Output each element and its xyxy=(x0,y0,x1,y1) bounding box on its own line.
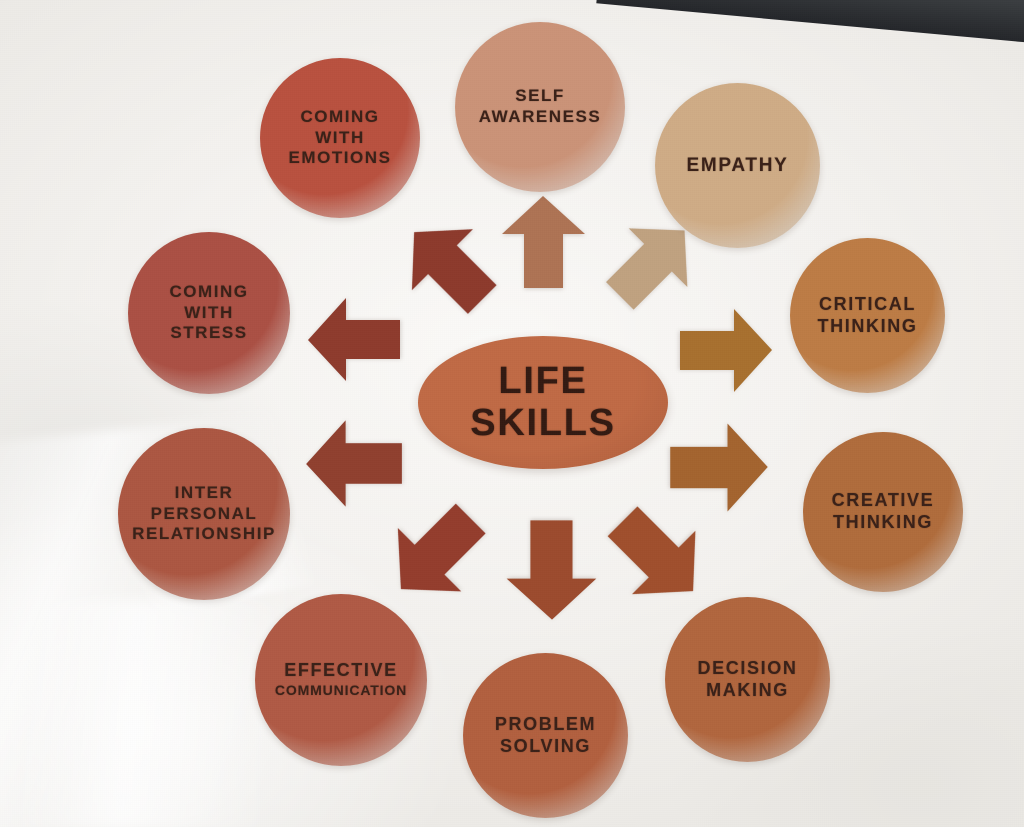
center-node-label-line1: LIFE xyxy=(498,360,587,402)
skill-node-label-line: PROBLEM xyxy=(495,714,596,734)
skill-node-label-line: EFFECTIVE xyxy=(284,660,398,680)
skill-node-problem-solving[interactable]: PROBLEMSOLVING xyxy=(463,653,628,818)
arrow-to-self-awareness xyxy=(493,192,593,292)
arrow-to-coming-with-stress xyxy=(304,290,404,390)
skill-node-label-line: EMOTIONS xyxy=(289,148,392,167)
center-node-label-line2: SKILLS xyxy=(470,402,615,444)
skill-node-label-line: SOLVING xyxy=(500,736,591,756)
arrow-to-self-awareness-glyph xyxy=(493,192,593,292)
skill-node-label-line: THINKING xyxy=(833,512,933,532)
skill-node-decision-making[interactable]: DECISIONMAKING xyxy=(665,597,830,762)
skill-node-label-line: MAKING xyxy=(706,680,789,700)
arrow-to-inter-personal xyxy=(302,412,406,516)
skill-node-label-line: COMING xyxy=(300,107,379,126)
skill-node-label: DECISIONMAKING xyxy=(692,658,804,702)
skill-node-label-line: WITH xyxy=(315,128,365,147)
skill-node-self-awareness[interactable]: SELFAWARENESS xyxy=(455,22,625,192)
skill-node-coming-with-stress[interactable]: COMINGWITHSTRESS xyxy=(128,232,290,394)
arrow-to-inter-personal-glyph xyxy=(302,412,406,516)
skill-node-label: INTERPERSONALRELATIONSHIP xyxy=(126,483,282,545)
skill-node-label: CRITICALTHINKING xyxy=(812,294,924,338)
skill-node-coming-with-emotions[interactable]: COMINGWITHEMOTIONS xyxy=(260,58,420,218)
skill-node-label: COMINGWITHEMOTIONS xyxy=(283,107,398,169)
skill-node-label-line: RELATIONSHIP xyxy=(132,524,276,543)
arrow-to-problem-solving xyxy=(498,516,606,624)
skill-node-label: COMINGWITHSTRESS xyxy=(163,282,254,344)
skill-node-label: CREATIVETHINKING xyxy=(826,490,941,534)
arrow-to-critical-thinking xyxy=(676,300,776,400)
skill-node-critical-thinking[interactable]: CRITICALTHINKING xyxy=(790,238,945,393)
skill-node-label-line: DECISION xyxy=(698,658,798,678)
skill-node-label-line: PERSONAL xyxy=(151,504,258,523)
skill-node-label-line: CREATIVE xyxy=(832,490,935,510)
skill-node-label: EFFECTIVECOMMUNICATION xyxy=(269,660,413,699)
skill-node-label-line: COMING xyxy=(169,282,248,301)
skill-node-label-line: STRESS xyxy=(170,323,247,342)
skill-node-effective-communication[interactable]: EFFECTIVECOMMUNICATION xyxy=(255,594,427,766)
skill-node-label-line: THINKING xyxy=(818,316,918,336)
skill-node-label: PROBLEMSOLVING xyxy=(489,714,602,758)
life-skills-poster: COMINGWITHEMOTIONSSELFAWARENESSEMPATHYCR… xyxy=(0,0,1024,827)
skill-node-label-line: COMMUNICATION xyxy=(275,682,407,699)
arrow-to-coming-with-stress-glyph xyxy=(304,290,404,390)
skill-node-label: EMPATHY xyxy=(680,154,794,177)
arrow-to-problem-solving-glyph xyxy=(498,516,606,624)
skill-node-label-line: CRITICAL xyxy=(819,294,916,314)
skill-node-label-line: INTER xyxy=(175,483,234,502)
skill-node-label-line: EMPATHY xyxy=(686,155,788,176)
skill-node-label-line: AWARENESS xyxy=(479,107,601,126)
skill-node-label-line: WITH xyxy=(184,303,234,322)
arrow-to-critical-thinking-glyph xyxy=(676,300,776,400)
center-node-label: LIFE SKILLS xyxy=(470,361,615,445)
skill-node-inter-personal-relationship[interactable]: INTERPERSONALRELATIONSHIP xyxy=(118,428,290,600)
center-node-life-skills[interactable]: LIFE SKILLS xyxy=(418,336,668,469)
skill-node-label: SELFAWARENESS xyxy=(473,86,607,127)
skill-node-label-line: SELF xyxy=(515,86,565,105)
skill-node-empathy[interactable]: EMPATHY xyxy=(655,83,820,248)
skill-node-creative-thinking[interactable]: CREATIVETHINKING xyxy=(803,432,963,592)
